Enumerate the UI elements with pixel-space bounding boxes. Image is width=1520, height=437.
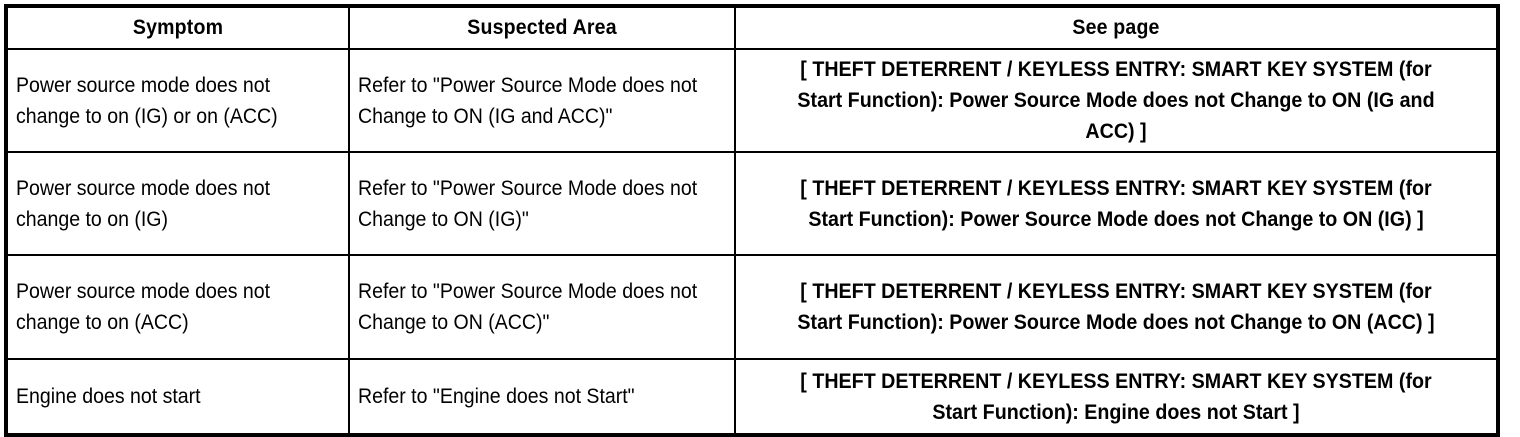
diagnostic-trouble-table: Symptom Suspected Area See page Power so… bbox=[4, 4, 1500, 437]
table-header-row: Symptom Suspected Area See page bbox=[6, 6, 1498, 49]
cell-see-page[interactable]: [ THEFT DETERRENT / KEYLESS ENTRY: SMART… bbox=[735, 49, 1498, 152]
cell-see-page[interactable]: [ THEFT DETERRENT / KEYLESS ENTRY: SMART… bbox=[735, 255, 1498, 359]
cell-suspected-area: Refer to "Power Source Mode does not Cha… bbox=[349, 152, 735, 255]
cell-symptom: Engine does not start bbox=[6, 359, 349, 435]
cell-symptom: Power source mode does not change to on … bbox=[6, 49, 349, 152]
cell-suspected-area: Refer to "Power Source Mode does not Cha… bbox=[349, 49, 735, 152]
cell-suspected-area: Refer to "Power Source Mode does not Cha… bbox=[349, 255, 735, 359]
cell-symptom-inner: Power source mode does not change to on … bbox=[8, 272, 348, 342]
cell-symptom-text: Power source mode does not change to on … bbox=[16, 173, 319, 235]
table-row: Power source mode does not change to on … bbox=[6, 255, 1498, 359]
column-header-suspected-area: Suspected Area bbox=[349, 6, 735, 49]
column-header-see-page-label: See page bbox=[763, 16, 1470, 40]
table-row: Engine does not start Refer to "Engine d… bbox=[6, 359, 1498, 435]
column-header-suspected-area-label: Suspected Area bbox=[363, 16, 720, 40]
cell-symptom-text: Engine does not start bbox=[16, 381, 319, 412]
cell-suspected-area-text: Refer to "Power Source Mode does not Cha… bbox=[358, 173, 702, 235]
cell-suspected-area-text: Refer to "Power Source Mode does not Cha… bbox=[358, 276, 702, 338]
cell-symptom-text: Power source mode does not change to on … bbox=[16, 70, 319, 132]
cell-suspected-area-inner: Refer to "Power Source Mode does not Cha… bbox=[350, 66, 734, 136]
cell-see-page[interactable]: [ THEFT DETERRENT / KEYLESS ENTRY: SMART… bbox=[735, 359, 1498, 435]
column-header-symptom-label: Symptom bbox=[20, 16, 336, 40]
cell-symptom-inner: Power source mode does not change to on … bbox=[8, 169, 348, 239]
cell-suspected-area-inner: Refer to "Engine does not Start" bbox=[350, 377, 734, 416]
cell-see-page-inner: [ THEFT DETERRENT / KEYLESS ENTRY: SMART… bbox=[736, 169, 1496, 239]
cell-symptom: Power source mode does not change to on … bbox=[6, 152, 349, 255]
cell-suspected-area: Refer to "Engine does not Start" bbox=[349, 359, 735, 435]
cell-suspected-area-text: Refer to "Engine does not Start" bbox=[358, 381, 702, 412]
table-row: Power source mode does not change to on … bbox=[6, 152, 1498, 255]
cell-symptom: Power source mode does not change to on … bbox=[6, 255, 349, 359]
table-header: Symptom Suspected Area See page bbox=[6, 6, 1498, 49]
column-header-see-page: See page bbox=[735, 6, 1498, 49]
cell-see-page[interactable]: [ THEFT DETERRENT / KEYLESS ENTRY: SMART… bbox=[735, 152, 1498, 255]
cell-see-page-inner: [ THEFT DETERRENT / KEYLESS ENTRY: SMART… bbox=[736, 272, 1496, 342]
table-row: Power source mode does not change to on … bbox=[6, 49, 1498, 152]
cell-suspected-area-inner: Refer to "Power Source Mode does not Cha… bbox=[350, 272, 734, 342]
cell-see-page-inner: [ THEFT DETERRENT / KEYLESS ENTRY: SMART… bbox=[736, 50, 1496, 151]
cell-see-page-link[interactable]: [ THEFT DETERRENT / KEYLESS ENTRY: SMART… bbox=[777, 173, 1456, 235]
page-root: Symptom Suspected Area See page Power so… bbox=[0, 0, 1520, 434]
cell-see-page-link[interactable]: [ THEFT DETERRENT / KEYLESS ENTRY: SMART… bbox=[777, 366, 1456, 428]
cell-symptom-inner: Power source mode does not change to on … bbox=[8, 66, 348, 136]
table-body: Power source mode does not change to on … bbox=[6, 49, 1498, 435]
cell-symptom-text: Power source mode does not change to on … bbox=[16, 276, 319, 338]
cell-see-page-link[interactable]: [ THEFT DETERRENT / KEYLESS ENTRY: SMART… bbox=[777, 54, 1456, 147]
column-header-symptom: Symptom bbox=[6, 6, 349, 49]
cell-suspected-area-inner: Refer to "Power Source Mode does not Cha… bbox=[350, 169, 734, 239]
cell-see-page-inner: [ THEFT DETERRENT / KEYLESS ENTRY: SMART… bbox=[736, 362, 1496, 432]
cell-suspected-area-text: Refer to "Power Source Mode does not Cha… bbox=[358, 70, 702, 132]
cell-symptom-inner: Engine does not start bbox=[8, 377, 348, 416]
cell-see-page-link[interactable]: [ THEFT DETERRENT / KEYLESS ENTRY: SMART… bbox=[777, 276, 1456, 338]
